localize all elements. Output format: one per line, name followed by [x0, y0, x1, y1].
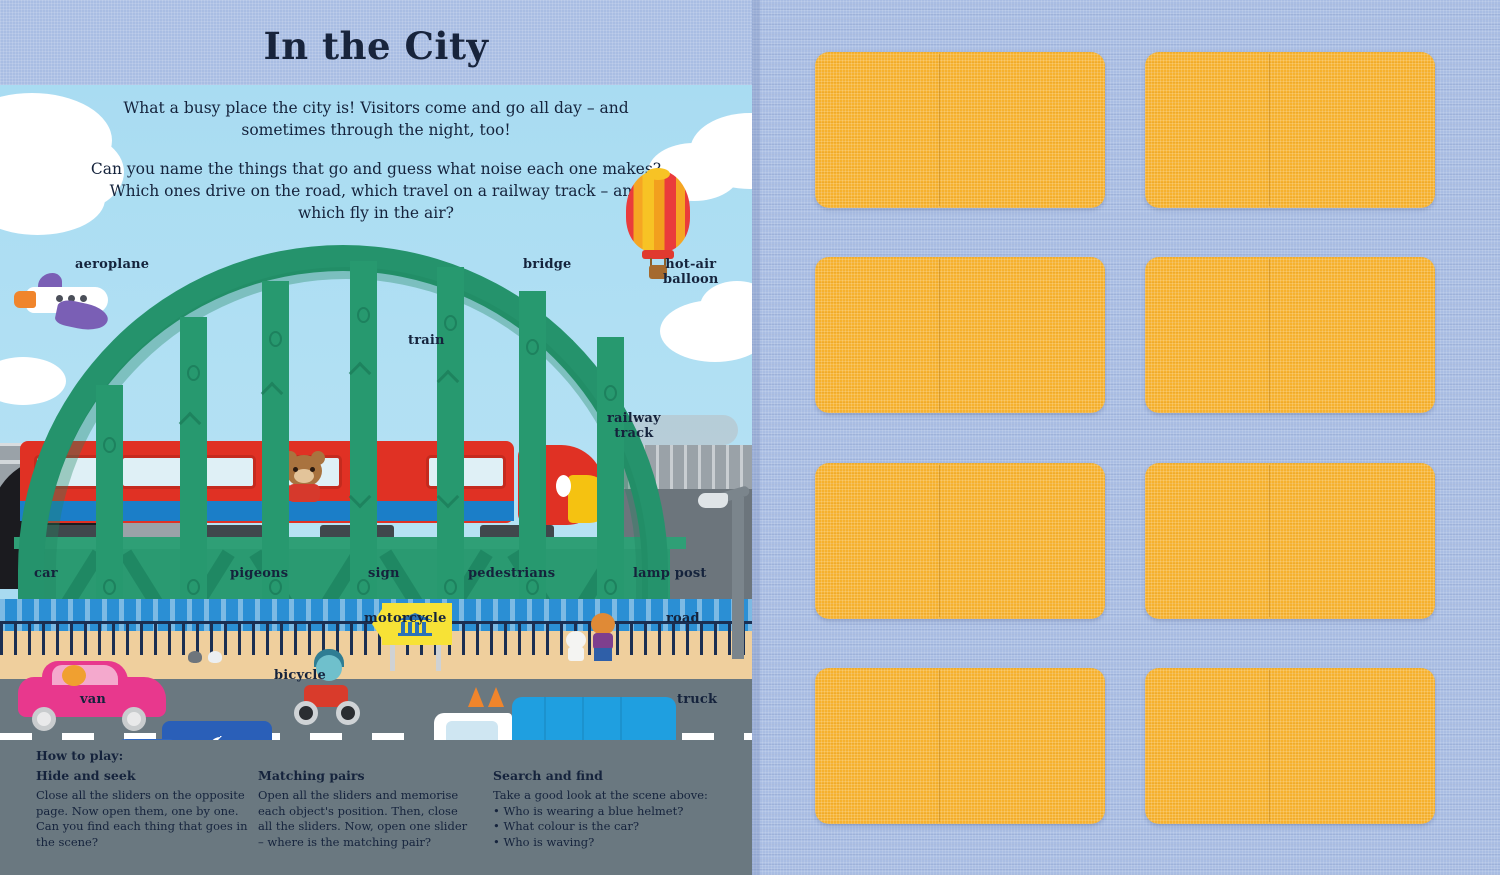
column-body: Open all the sliders and memorise each o… [258, 788, 473, 850]
scene-label-sign: sign [368, 567, 400, 582]
pigeon-icon [208, 651, 222, 663]
how-to-play-column-matching-pairs: Matching pairs Open all the sliders and … [258, 768, 473, 850]
bullet-item: • What colour is the car? [493, 819, 743, 835]
slider-tab-8[interactable] [1145, 668, 1435, 824]
column-bullets: • Who is wearing a blue helmet? • What c… [493, 804, 743, 851]
page-title: In the City [0, 24, 752, 68]
how-to-play-section: How to play: Hide and seek Close all the… [0, 740, 752, 875]
scene-label-train: train [408, 334, 445, 349]
column-body: Close all the sliders on the opposite pa… [36, 788, 251, 850]
scene-label-bicycle: bicycle [274, 669, 326, 684]
van-icon [112, 721, 272, 740]
column-heading: Hide and seek [36, 768, 251, 783]
slider-tab-4[interactable] [1145, 257, 1435, 413]
slider-tab-5[interactable] [815, 463, 1105, 619]
scene-label-lamp-post: lamp post [633, 567, 707, 582]
scene-label-truck: truck [677, 693, 717, 708]
truck-icon [434, 697, 676, 740]
bullet-item: • Who is wearing a blue helmet? [493, 804, 743, 820]
bridge-icon [0, 85, 752, 645]
pedestrian-kitten-icon [566, 631, 586, 665]
bullet-item: • Who is waving? [493, 835, 743, 851]
right-page-slider-grid [752, 0, 1500, 875]
left-page: In the City What a busy place the city i… [0, 0, 752, 875]
pigeon-icon [188, 651, 202, 663]
scene-label-van: van [80, 693, 106, 708]
page-gutter [752, 0, 760, 875]
slider-seam [939, 670, 940, 822]
slider-seam [1269, 465, 1270, 617]
scene-label-railway-track: railway track [607, 412, 661, 441]
how-to-play-title: How to play: [36, 748, 123, 763]
slider-tab-3[interactable] [815, 257, 1105, 413]
book-spread: In the City What a busy place the city i… [0, 0, 1500, 875]
scene-label-motorcycle: motorcycle [364, 612, 447, 627]
column-body: Take a good look at the scene above: [493, 788, 743, 804]
title-band: In the City [0, 0, 752, 85]
column-heading: Matching pairs [258, 768, 473, 783]
scene-label-pigeons: pigeons [230, 567, 288, 582]
slider-tab-2[interactable] [1145, 52, 1435, 208]
scene-label-car: car [34, 567, 58, 582]
slider-seam [939, 465, 940, 617]
pedestrian-cat-icon [590, 613, 616, 661]
lamp-post-icon [700, 483, 752, 659]
scene-label-bridge: bridge [523, 258, 572, 273]
how-to-play-column-search-and-find: Search and find Take a good look at the … [493, 768, 743, 850]
slider-tab-6[interactable] [1145, 463, 1435, 619]
slider-seam [939, 54, 940, 206]
slider-seam [1269, 259, 1270, 411]
car-icon [18, 661, 166, 721]
scene-label-hot-air-balloon: hot-air balloon [663, 258, 719, 287]
column-heading: Search and find [493, 768, 743, 783]
slider-seam [939, 259, 940, 411]
city-scene: What a busy place the city is! Visitors … [0, 85, 752, 740]
scene-label-aeroplane: aeroplane [75, 258, 149, 273]
scene-label-pedestrians: pedestrians [468, 567, 555, 582]
slider-tab-1[interactable] [815, 52, 1105, 208]
wrench-icon [190, 733, 236, 740]
slider-tab-7[interactable] [815, 668, 1105, 824]
slider-seam [1269, 54, 1270, 206]
how-to-play-column-hide-and-seek: Hide and seek Close all the sliders on t… [36, 768, 251, 850]
scene-label-road: road [666, 612, 700, 627]
slider-seam [1269, 670, 1270, 822]
